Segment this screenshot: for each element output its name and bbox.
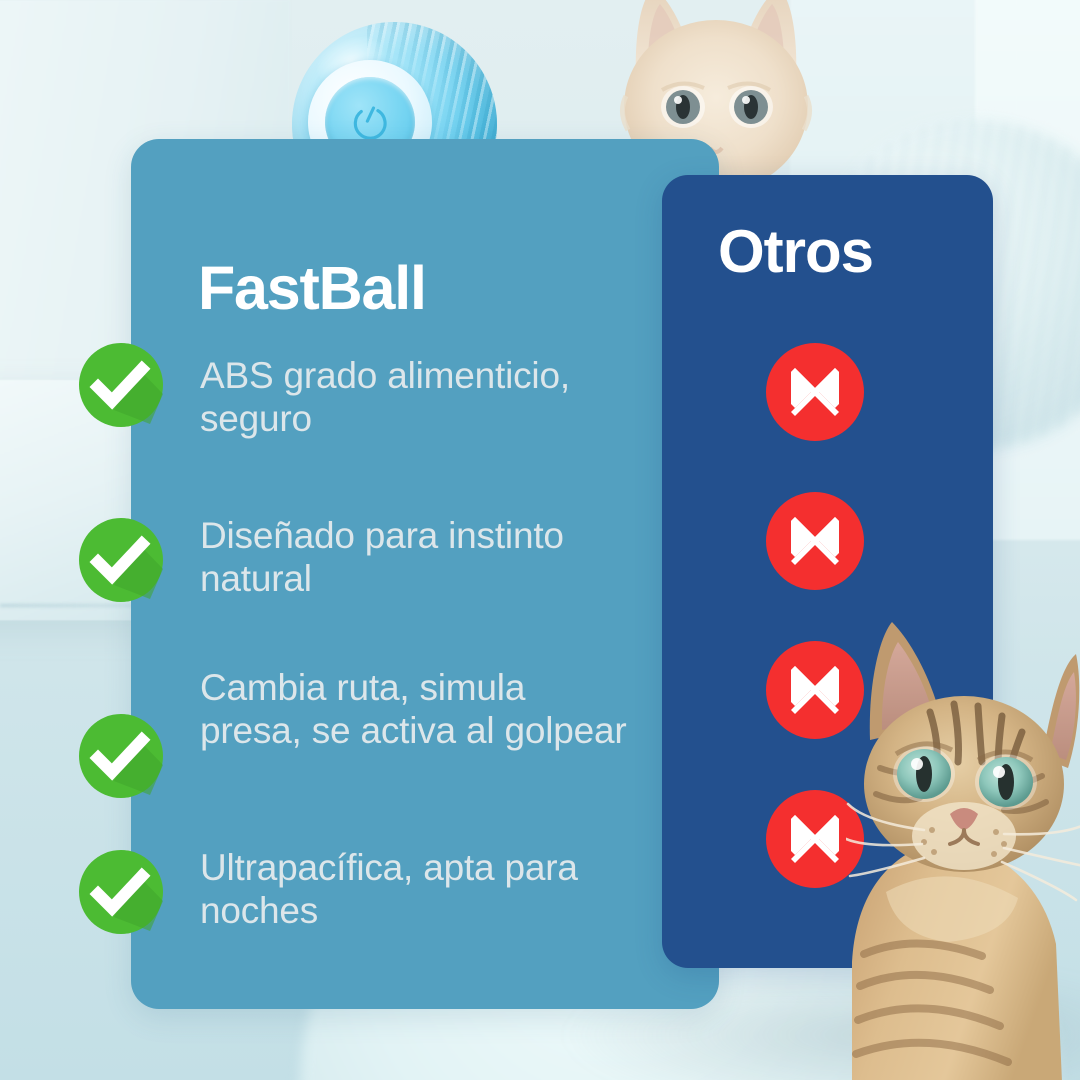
product-feature-list: ABS grado alimenticio, seguro Diseñado p… [78, 345, 638, 921]
list-item: Ultrapacífica, apta para noches [78, 799, 638, 899]
feature-text: Ultrapacífica, apta para noches [200, 847, 630, 933]
competitor-panel-title: Otros [718, 222, 938, 282]
x-icon [765, 342, 865, 442]
list-item: Diseñado para instinto natural [78, 467, 638, 595]
page-title: FastBall [198, 258, 426, 319]
check-icon [78, 713, 164, 799]
check-icon [78, 342, 164, 428]
list-item: ABS grado alimenticio, seguro [78, 345, 638, 445]
infographic-canvas: FastBall ABS grado alimenticio, seguro [0, 0, 1080, 1080]
feature-text: Diseñado para instinto natural [200, 515, 630, 601]
power-icon [349, 101, 391, 143]
list-item: Cambia ruta, simula presa, se activa al … [78, 617, 638, 777]
check-icon [78, 517, 164, 603]
tabby-cat-photo [846, 562, 1080, 1080]
feature-text: Cambia ruta, simula presa, se activa al … [200, 667, 630, 753]
check-icon [78, 849, 164, 935]
feature-text: ABS grado alimenticio, seguro [200, 355, 630, 441]
